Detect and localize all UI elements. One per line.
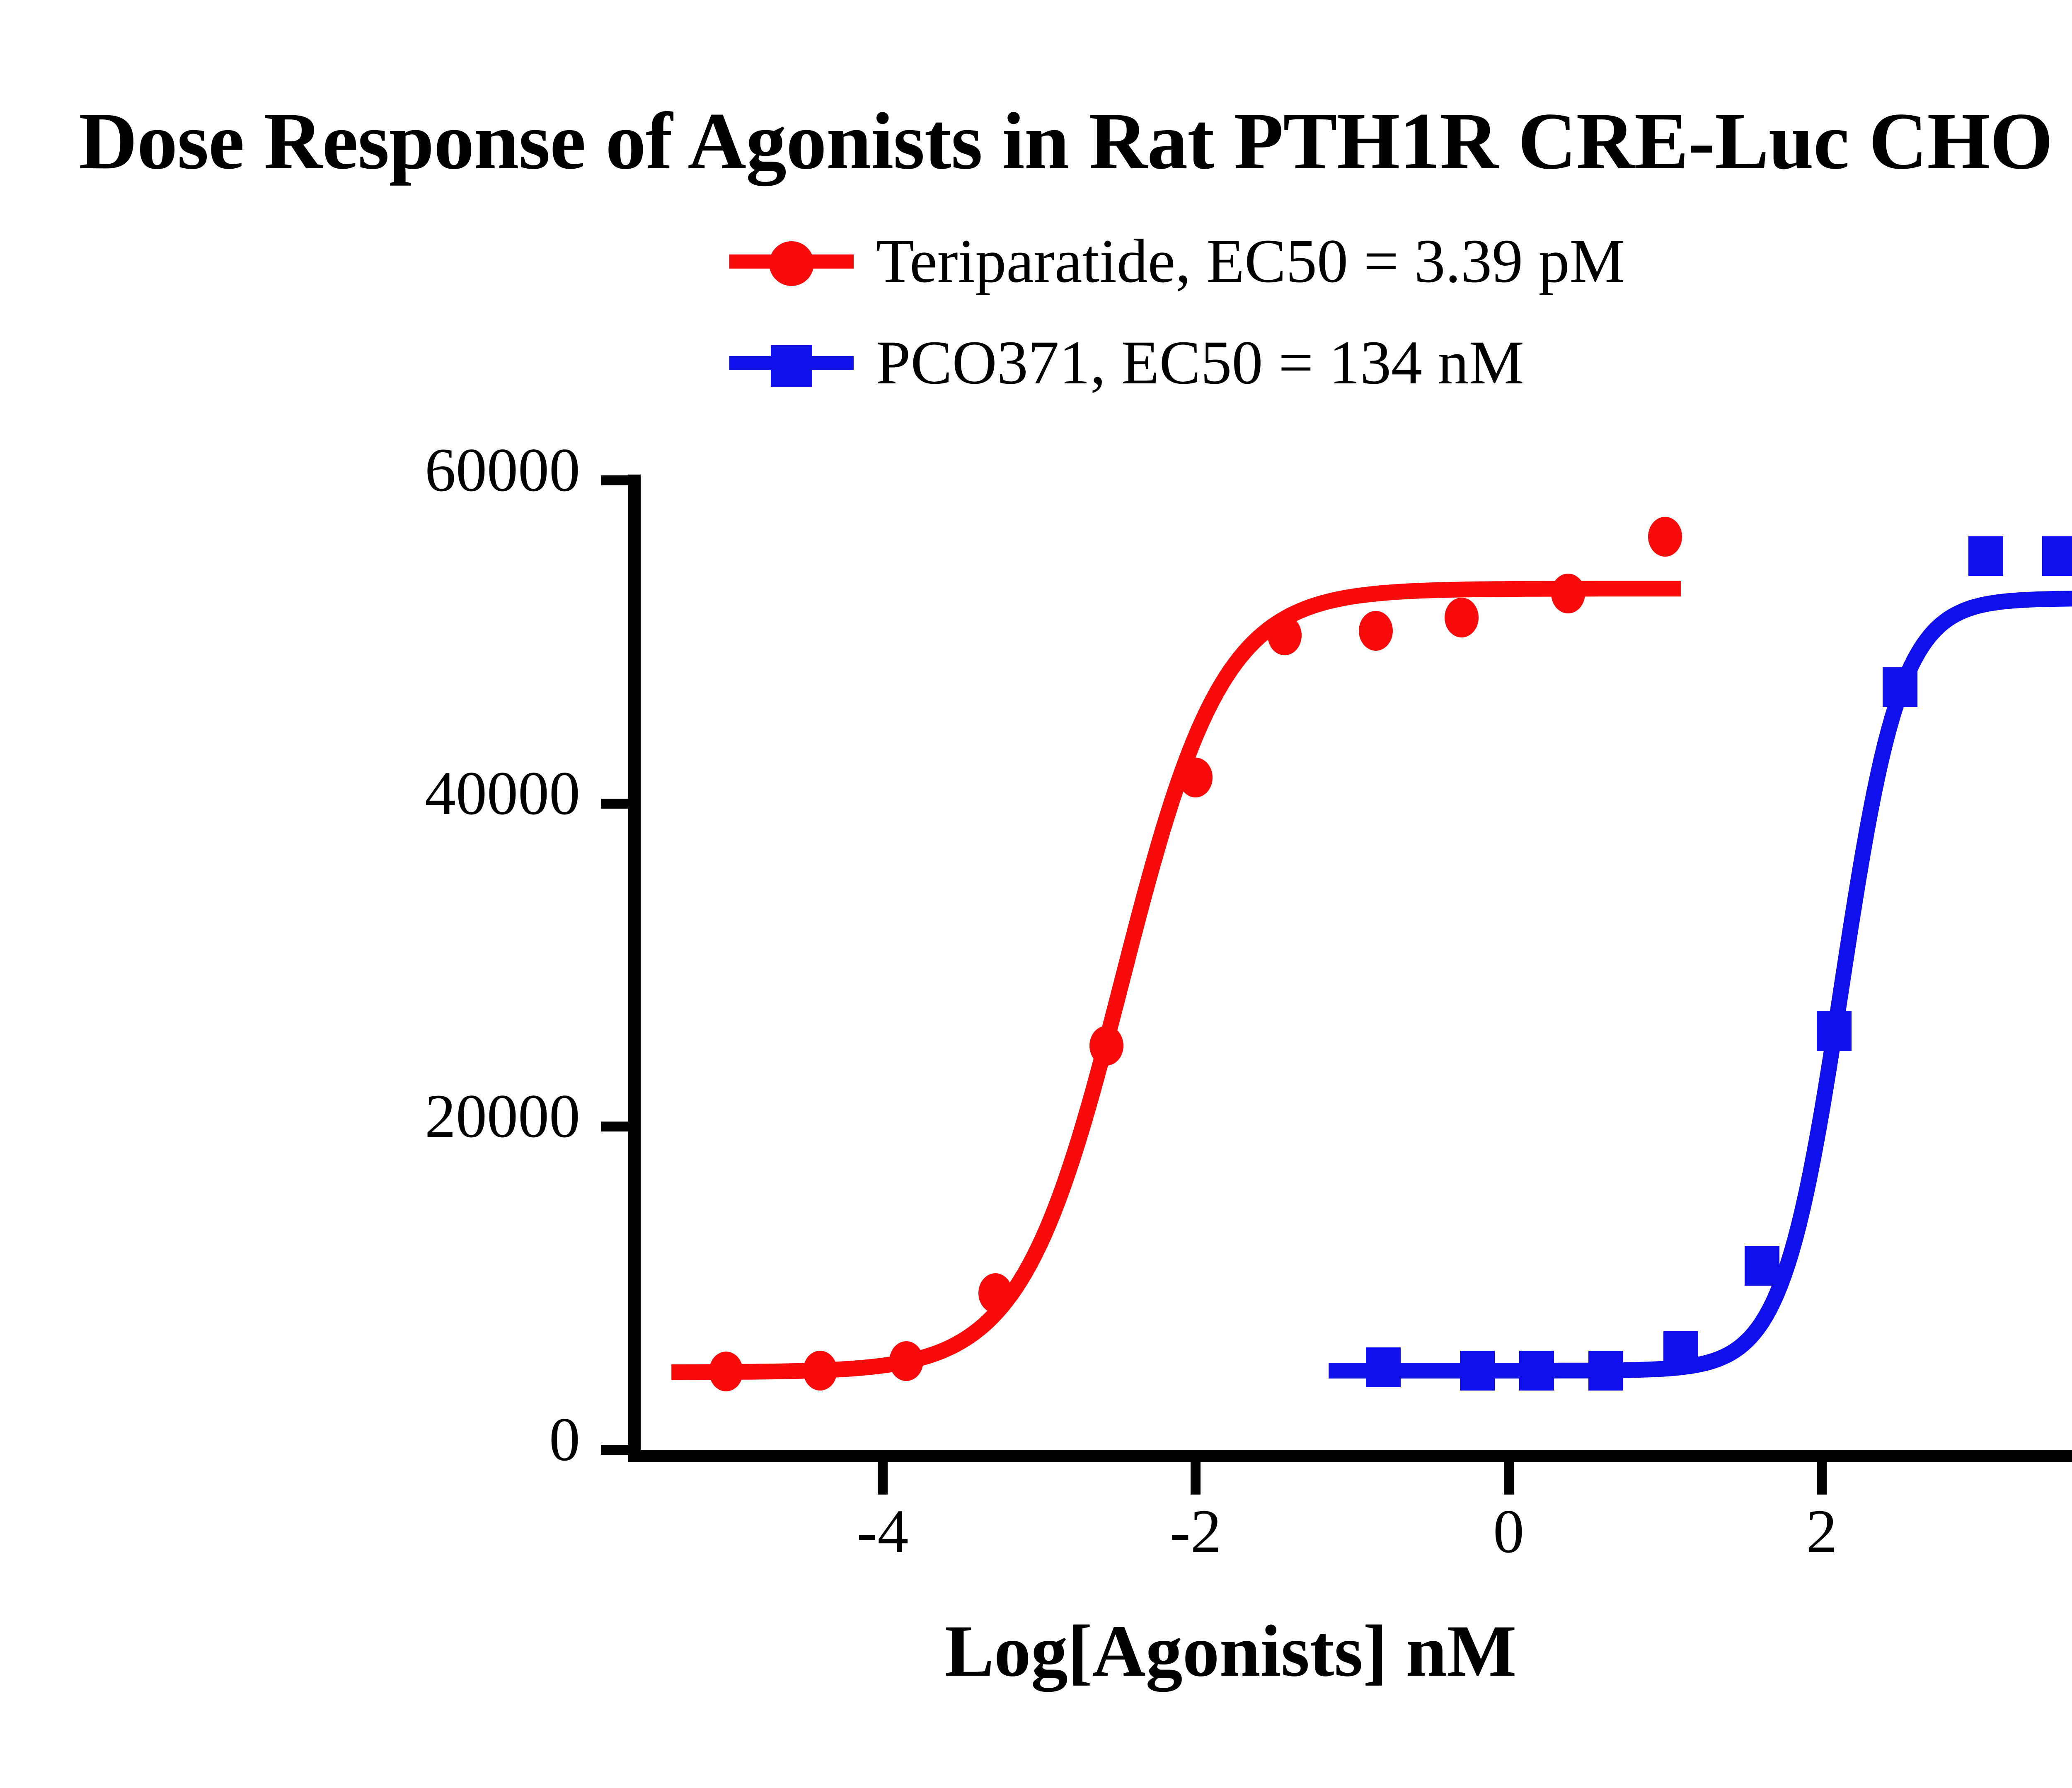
fit-curve-teriparatide <box>671 589 1681 1372</box>
x-tick-label: 0 <box>1447 1500 1571 1563</box>
y-tick-mark <box>601 799 628 809</box>
y-tick-mark <box>601 1445 628 1455</box>
data-point-teriparatide <box>1089 1026 1123 1066</box>
legend-marker-circle-icon <box>729 236 854 286</box>
fit-curve-pco371 <box>1329 598 2072 1371</box>
legend-marker-square-icon <box>729 338 854 388</box>
y-tick-label: 60000 <box>207 439 580 501</box>
data-point-pco371 <box>2042 536 2072 576</box>
y-axis-spine <box>628 475 641 1457</box>
chart-root: Dose Response of Agonists in Rat PTH1R C… <box>0 0 2072 1788</box>
data-point-teriparatide <box>1179 758 1213 797</box>
x-tick-label: -2 <box>1133 1500 1258 1563</box>
data-point-pco371 <box>1460 1351 1495 1391</box>
data-point-pco371 <box>1588 1351 1623 1391</box>
x-tick-mark <box>1504 1462 1514 1495</box>
x-tick-mark <box>1191 1462 1201 1495</box>
legend-label-pco371: PCO371, EC50 = 134 nM <box>876 332 1524 394</box>
legend-label-teriparatide: Teriparatide, EC50 = 3.39 pM <box>876 230 1625 292</box>
x-tick-mark <box>1817 1462 1827 1495</box>
data-point-teriparatide <box>1648 517 1682 557</box>
data-point-pco371 <box>1519 1351 1554 1391</box>
data-point-pco371 <box>1663 1331 1698 1371</box>
y-tick-label: 0 <box>207 1408 580 1471</box>
data-point-teriparatide <box>709 1352 743 1391</box>
y-tick-mark <box>601 1122 628 1131</box>
data-point-pco371 <box>1745 1246 1779 1286</box>
data-point-teriparatide <box>978 1273 1012 1313</box>
data-point-pco371 <box>1883 667 1917 707</box>
y-tick-mark <box>601 475 628 485</box>
data-point-teriparatide <box>803 1351 837 1391</box>
data-point-teriparatide <box>1359 611 1393 651</box>
y-tick-label: 40000 <box>207 762 580 824</box>
data-point-teriparatide <box>889 1341 923 1381</box>
legend-entry-teriparatide: Teriparatide, EC50 = 3.39 pM <box>729 230 1625 292</box>
data-point-pco371 <box>1817 1011 1852 1051</box>
data-point-pco371 <box>1968 536 2003 576</box>
x-axis-title: Log[Agonists] nM <box>945 1608 1517 1694</box>
data-point-teriparatide <box>1445 598 1479 637</box>
data-point-pco371 <box>1366 1347 1401 1387</box>
legend-entry-pco371: PCO371, EC50 = 134 nM <box>729 332 1524 394</box>
data-point-teriparatide <box>1268 615 1302 655</box>
x-tick-label: -4 <box>821 1500 945 1563</box>
data-point-teriparatide <box>1551 574 1585 613</box>
x-tick-mark <box>878 1462 888 1495</box>
y-tick-label: 20000 <box>207 1085 580 1147</box>
chart-title: Dose Response of Agonists in Rat PTH1R C… <box>79 75 2072 192</box>
y-axis-title: RLU <box>0 659 6 808</box>
x-tick-label: 2 <box>1760 1500 1884 1563</box>
x-axis-spine <box>628 1450 2072 1462</box>
